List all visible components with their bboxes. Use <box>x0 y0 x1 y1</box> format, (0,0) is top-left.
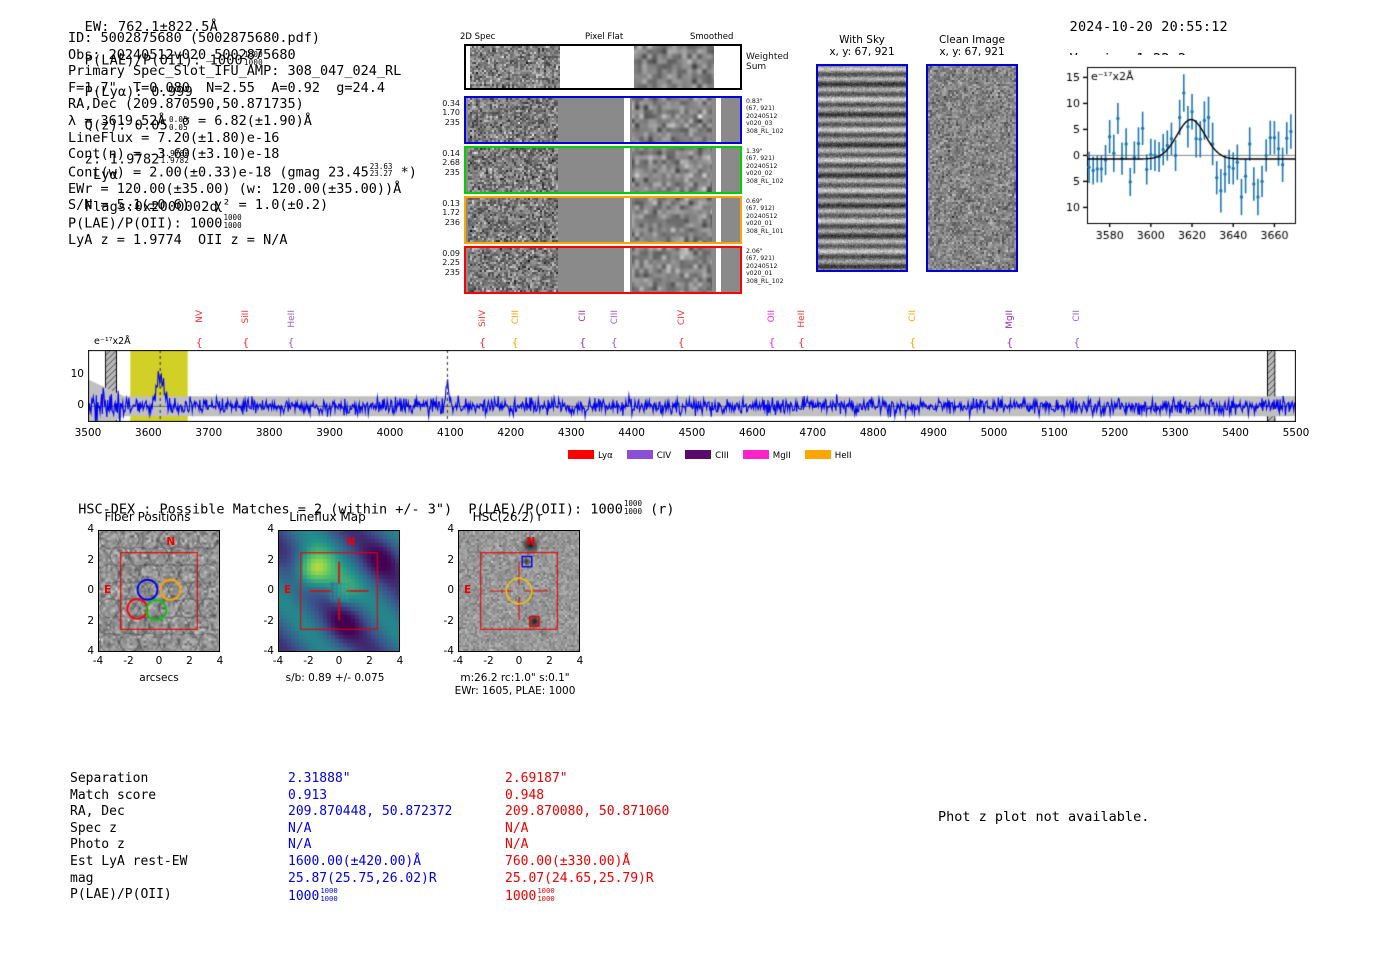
table-cell-match1: 0.913 <box>288 788 327 805</box>
table-row-label: Spec z <box>70 821 117 838</box>
spectrum-legend: LyαCIVCIIIMgIIHeII <box>568 450 866 461</box>
cutout-xtick: 0 <box>144 655 174 667</box>
fiber-row-stats: 0.142.68235 <box>420 149 460 177</box>
legend-swatch <box>805 450 831 459</box>
photz-note: Phot z plot not available. <box>938 809 1149 825</box>
table-cell-match1: 25.87(25.75,26.02)R <box>288 871 437 888</box>
table-cell-match1: N/A <box>288 821 311 838</box>
spectrum-xtick: 5300 <box>1155 427 1195 439</box>
spectrum-xtick: 4000 <box>370 427 410 439</box>
line-marker-label: MgII <box>1005 310 1015 329</box>
legend-swatch <box>568 450 594 459</box>
fiber-row-stats: 0.341.70235 <box>420 99 460 127</box>
cutout-xtick: -4 <box>83 655 113 667</box>
table-cell-match1: 2.31888" <box>288 771 351 788</box>
info-plae-frac: 10001000 <box>223 214 241 229</box>
line-marker-label: CII <box>578 310 588 322</box>
col-title-smoothed: Smoothed <box>690 32 733 42</box>
cutout-xtick: 4 <box>205 655 235 667</box>
legend-label: HeII <box>835 451 852 461</box>
legend-swatch <box>627 450 653 459</box>
full-spectrum-plot: 3500360037003800390040004100420043004400… <box>88 350 1296 422</box>
fiber-positions-title: Fiber Positions <box>60 510 235 524</box>
cutout-ytick: 2 <box>72 554 94 566</box>
with-sky-title: With Sky <box>812 34 912 47</box>
two-d-spectra-panel: 2D Spec Pixel Flat Smoothed Weighted Sum… <box>420 32 810 262</box>
lineflux-map-image <box>278 530 400 652</box>
spectrum-xtick: 4300 <box>551 427 591 439</box>
line-marker-label: CII <box>908 310 918 322</box>
fiber-row <box>464 196 742 244</box>
line-marker-bracket: { <box>288 336 295 349</box>
table-cell-match2: 100010001000 <box>505 887 555 906</box>
legend-label: Lyα <box>598 451 613 461</box>
fiber-row-meta: 1.39"(67, 921)20240512v020_02308_RL_102 <box>746 148 784 185</box>
spectrum-xtick: 5400 <box>1216 427 1256 439</box>
spectrum-xtick: 4800 <box>853 427 893 439</box>
cutout-ytick: 2 <box>72 615 94 627</box>
spectrum-xtick: 3500 <box>68 427 108 439</box>
cutout-ytick: 4 <box>432 523 454 535</box>
cutout-ytick: 2 <box>252 554 274 566</box>
lineflux-map-caption: s/b: 0.89 +/- 0.075 <box>250 672 420 684</box>
table-cell-match2: N/A <box>505 821 528 838</box>
clean-image-coords: x, y: 67, 921 <box>922 46 1022 59</box>
legend-swatch <box>685 450 711 459</box>
table-cell-match1: 209.870448, 50.872372 <box>288 804 452 821</box>
hsc-r-caption: m:26.2 rc:1.0" s:0.1" <box>425 672 605 684</box>
info-obs: Obs: 20240512v020_5002875680 <box>68 47 417 64</box>
spectrum-xtick: 5100 <box>1034 427 1074 439</box>
info-cont-n: Cont(n) = -3.60(±3.10)e-18 <box>68 146 417 163</box>
compass-north: N <box>166 536 175 548</box>
line-marker-label: CIII <box>610 310 620 324</box>
cutout-xtick: -2 <box>474 655 504 667</box>
fiber-row-meta: 2.06"(67, 921)20240512v020_01308_RL_102 <box>746 248 784 285</box>
with-sky-coords: x, y: 67, 921 <box>812 46 912 59</box>
table-row-label: Est LyA rest-EW <box>70 854 187 871</box>
spectrum-xtick: 5200 <box>1095 427 1135 439</box>
info-seeing: F=1.7" T=0.080 N=2.55 A=0.92 g=24.4 <box>68 80 417 97</box>
spectrum-ytick: 10 <box>62 368 84 380</box>
cutout-ytick: -2 <box>252 615 274 627</box>
table-cell-match2: 760.00(±330.00)Å <box>505 854 630 871</box>
fiber-positions-xlabel: arcsecs <box>98 672 220 684</box>
compass-east: E <box>464 584 471 596</box>
hsc-r-caption2: EWr: 1605, PLAE: 1000 <box>425 685 605 697</box>
fiber-row <box>464 146 742 194</box>
info-ewr: EWr = 120.00(±35.00) (w: 120.00(±35.00))… <box>68 181 417 198</box>
line-marker-label: NV <box>195 310 205 323</box>
line-marker-label: CIII <box>511 310 521 324</box>
cutout-ytick: 4 <box>252 523 274 535</box>
lineflux-map-title: Lineflux Map <box>240 510 415 524</box>
line-marker-bracket: { <box>242 336 249 349</box>
legend-label: CIII <box>715 451 729 461</box>
legend-item: HeII <box>805 450 852 461</box>
cutout-xtick: 0 <box>504 655 534 667</box>
line-marker-bracket: { <box>1006 336 1013 349</box>
spectrum-xtick: 4700 <box>793 427 833 439</box>
table-row-label: Match score <box>70 788 156 805</box>
info-radec: RA,Dec (209.870590,50.871735) <box>68 96 417 113</box>
spectrum-flux-annotation: e⁻¹⁷x2Å <box>94 336 131 347</box>
spectrum-xtick: 4400 <box>612 427 652 439</box>
spectrum-xtick: 4200 <box>491 427 531 439</box>
line-marker-bracket: { <box>909 336 916 349</box>
info-redshifts: LyA z = 1.9774 OII z = N/A <box>68 232 417 249</box>
weighted-sum-label: Weighted Sum <box>746 52 789 72</box>
info-id: ID: 5002875680 (5002875680.pdf) <box>68 30 417 47</box>
info-cont-w: Cont(w) = 2.00(±0.33)e-18 (gmag 23.4523.… <box>68 163 417 181</box>
fiber-positions-panel: Fiber Positions 42024-4-2024NE arcsecs <box>60 510 235 725</box>
table-cell-match2: 209.870080, 50.871060 <box>505 804 669 821</box>
line-marker-bracket: { <box>196 336 203 349</box>
compass-north: N <box>526 536 535 548</box>
cutout-xtick: 4 <box>565 655 595 667</box>
spectrum-xtick: 4100 <box>430 427 470 439</box>
line-marker-bracket: { <box>611 336 618 349</box>
line-marker-bracket: { <box>678 336 685 349</box>
hsc-r-image <box>458 530 580 652</box>
legend-item: CIV <box>627 450 671 461</box>
table-row-label: P(LAE)/P(OII) <box>70 887 172 904</box>
cutout-ytick: -2 <box>432 615 454 627</box>
fiber-row <box>464 96 742 144</box>
cutout-xtick: 2 <box>535 655 565 667</box>
table-row-label: RA, Dec <box>70 804 125 821</box>
line-marker-bracket: { <box>1073 336 1080 349</box>
line-marker-label: OII <box>767 310 777 322</box>
line-marker-label: SiII <box>241 310 251 324</box>
info-gmag-frac: 23.6323.27 <box>370 163 393 178</box>
line-marker-label: CIV <box>677 310 687 325</box>
fiber-row <box>464 246 742 294</box>
cutout-xtick: 2 <box>175 655 205 667</box>
line-marker-bracket: { <box>768 336 775 349</box>
spectrum-xtick: 5000 <box>974 427 1014 439</box>
cutout-xtick: 2 <box>355 655 385 667</box>
table-cell-match2: N/A <box>505 837 528 854</box>
col-title-2dspec: 2D Spec <box>460 32 495 42</box>
compass-east: E <box>284 584 291 596</box>
cutout-xtick: -2 <box>294 655 324 667</box>
table-row-label: Separation <box>70 771 148 788</box>
line-marker-bracket: { <box>579 336 586 349</box>
info-lambda: λ = 3619.52Å σ = 6.82(±1.90)Å <box>68 113 417 130</box>
compass-north: N <box>346 536 355 548</box>
cutout-xtick: -2 <box>114 655 144 667</box>
cutout-xtick: -4 <box>263 655 293 667</box>
spectrum-xtick: 4600 <box>732 427 772 439</box>
cutout-xtick: 4 <box>385 655 415 667</box>
cutout-xtick: -4 <box>443 655 473 667</box>
fiber-positions-image <box>98 530 220 652</box>
header-datetime: 2024-10-20 20:55:12 <box>1070 19 1228 35</box>
compass-east: E <box>104 584 111 596</box>
legend-label: MgII <box>773 451 791 461</box>
table-row-label: mag <box>70 871 93 888</box>
weighted-sum-row <box>464 44 742 90</box>
fiber-row-stats: 0.092.25235 <box>420 249 460 277</box>
fiber-row-meta: 0.69"(67, 912)20240512v020_01308_RL_101 <box>746 198 784 235</box>
legend-item: MgII <box>743 450 791 461</box>
spectrum-xtick: 4500 <box>672 427 712 439</box>
hsc-plae-frac: 10001000 <box>624 500 642 515</box>
table-cell-match2: 25.07(24.65,25.79)R <box>505 871 654 888</box>
spectrum-xtick: 3700 <box>189 427 229 439</box>
line-marker-label: SiIV <box>478 310 488 327</box>
legend-swatch <box>743 450 769 459</box>
table-cell-match2: 2.69187" <box>505 771 568 788</box>
line-marker-bracket: { <box>798 336 805 349</box>
lineflux-map-panel: Lineflux Map 420-2-4-4-2024NE s/b: 0.89 … <box>240 510 415 725</box>
cutout-ytick: 0 <box>252 584 274 596</box>
fiber-row-stats: 0.131.72236 <box>420 199 460 227</box>
hsc-r-title: HSC(26.2) r <box>420 510 595 524</box>
legend-item: Lyα <box>568 450 613 461</box>
cutout-ytick: 2 <box>432 554 454 566</box>
cutout-xtick: 0 <box>324 655 354 667</box>
spectrum-xtick: 5500 <box>1276 427 1316 439</box>
info-slot: Primary Spec_Slot_IFU_AMP: 308_047_024_R… <box>68 63 417 80</box>
legend-label: CIV <box>657 451 671 461</box>
line-marker-label: HeII <box>797 310 807 328</box>
line-marker-bracket: { <box>512 336 519 349</box>
cutout-ytick: 0 <box>72 584 94 596</box>
info-lineflux: LineFlux = 7.20(±1.80)e-16 <box>68 130 417 147</box>
info-sn: S/N = 5.1(±0.6) χ² = 1.0(±0.2) <box>68 197 417 214</box>
table-cell-match2: 0.948 <box>505 788 544 805</box>
table-cell-match1: 1600.00(±420.00)Å <box>288 854 421 871</box>
line-marker-bracket: { <box>479 336 486 349</box>
table-cell-match1: 100010001000 <box>288 887 338 906</box>
hsc-r-panel: HSC(26.2) r 420-2-4-4-2024NE m:26.2 rc:1… <box>420 510 595 735</box>
clean-image-title: Clean Image <box>922 34 1022 47</box>
clean-image-image <box>926 64 1018 272</box>
cutout-ytick: 4 <box>72 523 94 535</box>
line-marker-label: CII <box>1072 310 1082 322</box>
cutout-ytick: 0 <box>432 584 454 596</box>
line-marker-label: HeII <box>287 310 297 328</box>
spectrum-ytick: 0 <box>62 399 84 411</box>
table-row-label: Photo z <box>70 837 125 854</box>
object-info-block: ID: 5002875680 (5002875680.pdf) Obs: 202… <box>68 30 417 248</box>
legend-item: CIII <box>685 450 729 461</box>
spectrum-xtick: 3600 <box>128 427 168 439</box>
spectrum-xtick: 3900 <box>310 427 350 439</box>
table-cell-match1: N/A <box>288 837 311 854</box>
info-plae: P(LAE)/P(OII): 100010001000 <box>68 214 417 232</box>
emission-line-plot <box>1045 55 1300 264</box>
col-title-pixelflat: Pixel Flat <box>585 32 623 42</box>
with-sky-image <box>816 64 908 272</box>
fiber-row-meta: 0.83"(67, 921)20240512v020_03308_RL_102 <box>746 98 784 135</box>
spectrum-xtick: 3800 <box>249 427 289 439</box>
spectrum-xtick: 4900 <box>914 427 954 439</box>
